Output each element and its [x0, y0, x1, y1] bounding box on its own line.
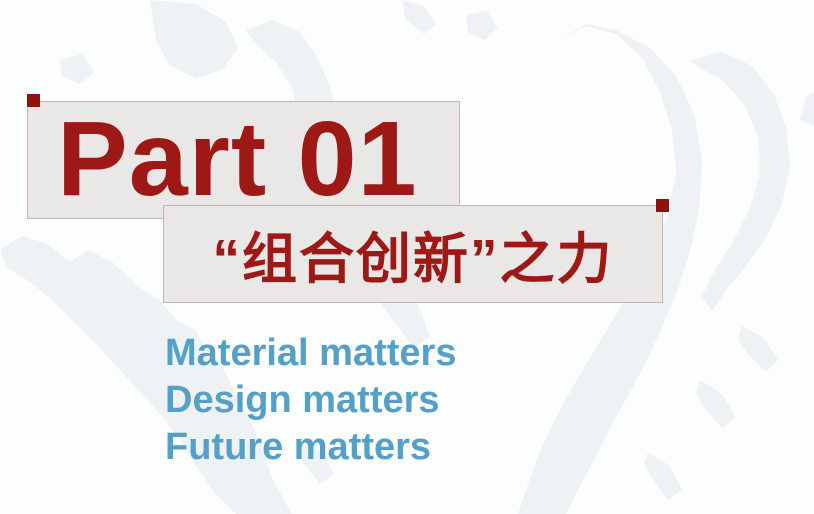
subtitle-line: Design matters	[165, 377, 725, 424]
chinese-title-text: “组合创新”之力	[163, 205, 663, 303]
slide-part-01: Part 01 “组合创新”之力 Material matters Design…	[0, 0, 814, 514]
subtitle-line: Future matters	[165, 424, 725, 471]
subtitle-block: Material matters Design matters Future m…	[165, 330, 725, 471]
subtitle-line: Material matters	[165, 330, 725, 377]
corner-square-top-right-icon	[656, 199, 669, 212]
corner-square-top-left-icon	[27, 94, 40, 107]
